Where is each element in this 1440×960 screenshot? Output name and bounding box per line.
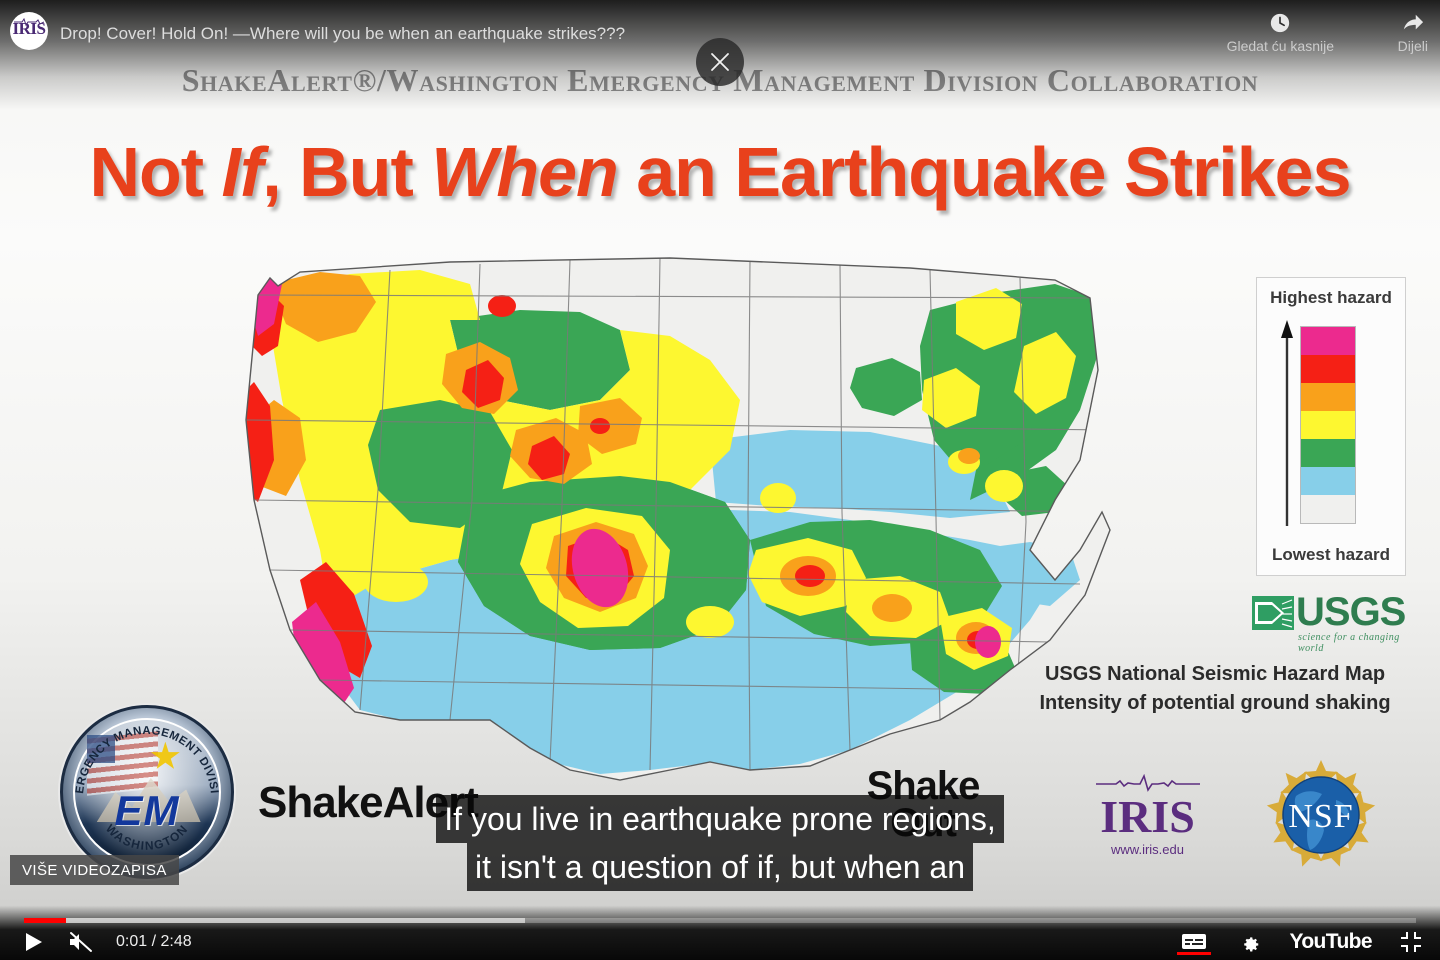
- legend-swatch-3: [1301, 411, 1355, 439]
- seal-arc-top-text: EMERGENCY MANAGEMENT DIVISION: [63, 708, 220, 794]
- seal-arc-bottom-text: WASHINGTON: [103, 822, 191, 853]
- avatar-label: IRIS: [10, 19, 48, 39]
- share-arrow-icon: [1402, 12, 1424, 34]
- volume-muted-icon: [68, 931, 94, 953]
- watch-later-button[interactable]: Gledat ću kasnije: [1227, 12, 1334, 54]
- legend-swatch-2: [1301, 383, 1355, 411]
- progress-played: [24, 918, 66, 923]
- mute-button[interactable]: [64, 925, 98, 959]
- video-title[interactable]: Drop! Cover! Hold On! —Where will you be…: [60, 24, 625, 44]
- svg-text:EMERGENCY MANAGEMENT DIVISION: EMERGENCY MANAGEMENT DIVISION: [63, 708, 220, 794]
- title-seg-3: an Earthquake Strikes: [618, 133, 1351, 211]
- map-caption: USGS National Seismic Hazard Map Intensi…: [1000, 660, 1430, 718]
- hazard-layers: [150, 250, 1130, 810]
- usgs-logo: USGS science for a changing world: [1252, 594, 1402, 650]
- nsf-wordmark: NSF: [1288, 798, 1353, 835]
- legend-highest-label: Highest hazard: [1257, 288, 1405, 308]
- usgs-wordmark: USGS: [1296, 590, 1405, 635]
- seal-arc-text: EMERGENCY MANAGEMENT DIVISION WASHINGTON: [63, 708, 231, 876]
- iris-url: www.iris.edu: [1090, 842, 1205, 857]
- progress-bar[interactable]: [24, 918, 1416, 923]
- svg-text:WASHINGTON: WASHINGTON: [103, 822, 191, 853]
- shakealert-wordmark: ShakeAlert: [258, 778, 478, 828]
- player-controls-right: YouTube: [1177, 925, 1428, 959]
- legend-color-scale: [1300, 326, 1356, 524]
- progress-buffered: [24, 918, 525, 923]
- seismic-hazard-map: [150, 250, 1130, 810]
- nsf-logo: NSF: [1252, 760, 1390, 870]
- hazard-map-svg: [150, 250, 1130, 810]
- video-frame: ShakeAlert®/Washington Emergency Managem…: [0, 0, 1440, 960]
- legend-swatch-1: [1301, 355, 1355, 383]
- fullscreen-button[interactable]: [1394, 925, 1428, 959]
- share-label: Dijeli: [1398, 38, 1428, 54]
- channel-avatar[interactable]: IRIS: [10, 12, 48, 50]
- youtube-logo[interactable]: YouTube: [1289, 930, 1372, 954]
- washington-em-division-seal: EM EMERGENCY MANAGEMENT DIVISION WASHING…: [60, 705, 234, 879]
- slide-title: Not If, But When an Earthquake Strikes: [0, 132, 1440, 212]
- subtitles-active-underline: [1177, 952, 1211, 955]
- map-caption-line-1: USGS National Seismic Hazard Map: [1000, 660, 1430, 689]
- iris-wordmark: IRIS: [1090, 790, 1205, 843]
- legend-lowest-label: Lowest hazard: [1257, 545, 1405, 565]
- subtitles-icon: [1181, 932, 1207, 952]
- settings-button[interactable]: [1233, 925, 1267, 959]
- clock-icon: [1269, 12, 1291, 34]
- legend-swatch-0: [1301, 327, 1355, 355]
- gear-icon: [1239, 931, 1261, 953]
- usgs-mark-icon: [1252, 596, 1294, 630]
- time-display: 0:01 / 2:48: [116, 933, 192, 951]
- exit-fullscreen-icon: [1400, 931, 1422, 953]
- legend-swatch-6: [1301, 495, 1355, 523]
- watch-later-label: Gledat ću kasnije: [1227, 38, 1334, 54]
- iris-logo: IRIS www.iris.edu: [1090, 772, 1205, 864]
- close-button[interactable]: [696, 38, 744, 86]
- video-player-stage: ShakeAlert®/Washington Emergency Managem…: [0, 0, 1440, 960]
- hazard-legend: Highest hazard Lowest hazard: [1256, 277, 1406, 576]
- close-icon: [709, 51, 731, 73]
- title-italic-when: When: [431, 133, 618, 211]
- nsf-globe-icon: NSF: [1252, 760, 1390, 870]
- shakeout-line-2: Out: [838, 805, 1008, 842]
- more-videos-label: VIŠE VIDEOZAPISA: [22, 862, 167, 879]
- subtitles-button[interactable]: [1177, 925, 1211, 959]
- play-button[interactable]: [16, 925, 50, 959]
- title-italic-if: If: [222, 133, 263, 211]
- player-controls-left: 0:01 / 2:48: [16, 925, 192, 959]
- map-caption-line-2: Intensity of potential ground shaking: [1000, 689, 1430, 718]
- shakeout-line-1: Shake: [838, 768, 1008, 805]
- share-button[interactable]: Dijeli: [1398, 12, 1428, 54]
- up-arrow-icon: [1280, 320, 1294, 528]
- shakeout-wordmark: Shake Out: [838, 768, 1008, 842]
- usgs-tagline: science for a changing world: [1298, 632, 1402, 654]
- play-icon: [22, 931, 44, 953]
- legend-swatch-4: [1301, 439, 1355, 467]
- legend-swatch-5: [1301, 467, 1355, 495]
- title-seg-1: Not: [89, 133, 221, 211]
- title-seg-2: , But: [262, 133, 431, 211]
